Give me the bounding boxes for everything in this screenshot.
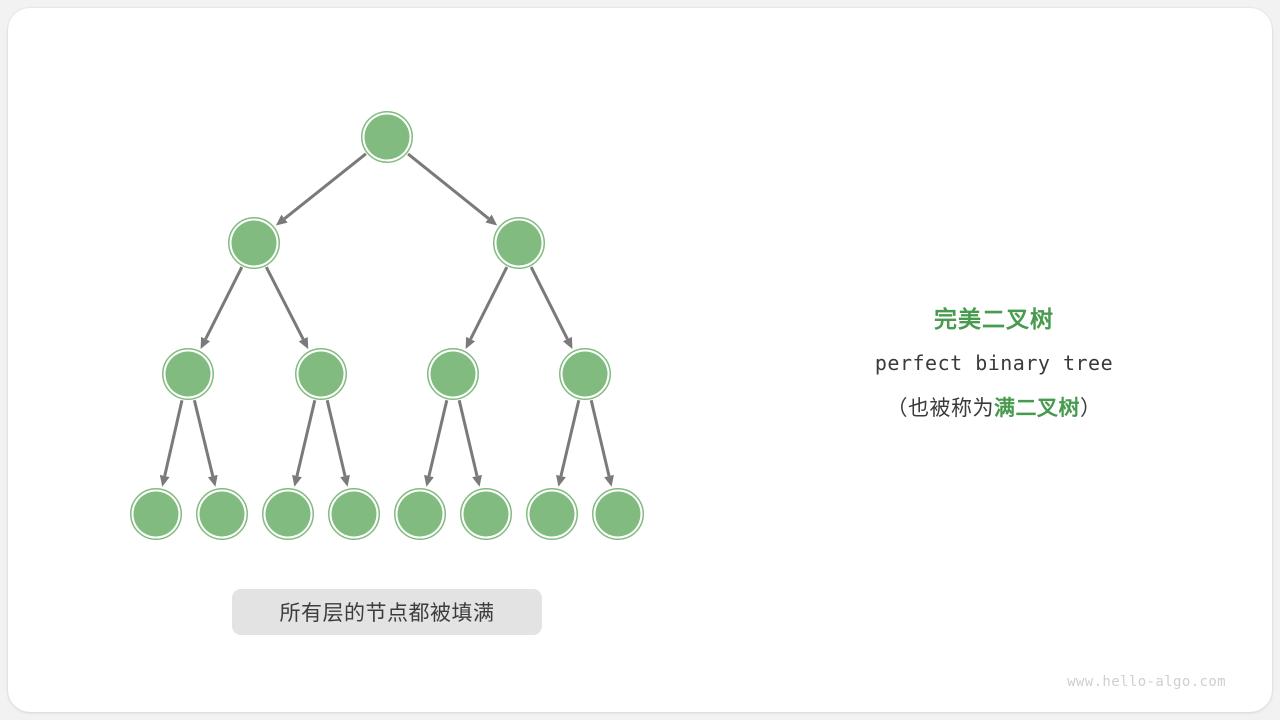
legend-subtitle: perfect binary tree — [808, 351, 1180, 375]
tree-edge — [591, 400, 609, 476]
site-watermark: www.hello-algo.com — [1067, 674, 1226, 690]
legend-alt-suffix: ） — [1080, 396, 1102, 420]
tree-node[interactable] — [494, 218, 545, 269]
tree-node-circle — [266, 492, 311, 537]
tree-node-circle — [596, 492, 641, 537]
tree-edge-arrowhead — [208, 475, 218, 487]
tree-node[interactable] — [362, 112, 413, 163]
tree-edge — [561, 400, 579, 476]
tree-node-circle — [232, 221, 277, 266]
tree-node-circle — [530, 492, 575, 537]
tree-edges — [160, 154, 614, 487]
tree-node-circle — [431, 352, 476, 397]
tree-node-circle — [464, 492, 509, 537]
tree-nodes — [131, 112, 644, 540]
tree-node[interactable] — [593, 489, 644, 540]
caption-badge: 所有层的节点都被填满 — [232, 589, 542, 635]
tree-edge — [285, 154, 366, 219]
tree-edge — [165, 400, 182, 476]
tree-node[interactable] — [329, 489, 380, 540]
tree-edge — [194, 400, 212, 476]
tree-node[interactable] — [395, 489, 446, 540]
tree-edge-arrowhead — [604, 475, 614, 487]
tree-edge — [327, 400, 345, 476]
tree-node-circle — [497, 221, 542, 266]
tree-edge-arrowhead — [424, 475, 434, 487]
tree-edge — [408, 154, 489, 219]
tree-edge-arrowhead — [340, 475, 350, 487]
tree-node-circle — [166, 352, 211, 397]
legend-alt-prefix: （也被称为 — [887, 396, 995, 420]
tree-node-circle — [332, 492, 377, 537]
tree-edge-arrowhead — [292, 475, 302, 487]
tree-edge — [297, 400, 315, 476]
diagram-canvas: 所有层的节点都被填满 完美二叉树 perfect binary tree （也被… — [0, 0, 1280, 720]
tree-node-circle — [200, 492, 245, 537]
tree-node[interactable] — [296, 349, 347, 400]
tree-edge — [266, 267, 303, 339]
legend-block: 完美二叉树 perfect binary tree （也被称为满二叉树） — [808, 300, 1180, 422]
tree-edge-arrowhead — [472, 475, 482, 487]
tree-node[interactable] — [560, 349, 611, 400]
tree-node-circle — [299, 352, 344, 397]
tree-node[interactable] — [428, 349, 479, 400]
tree-edge-arrowhead — [556, 475, 566, 487]
caption-label: 所有层的节点都被填满 — [280, 597, 495, 627]
tree-node[interactable] — [163, 349, 214, 400]
tree-node-circle — [563, 352, 608, 397]
tree-node-circle — [365, 115, 410, 160]
tree-node-circle — [398, 492, 443, 537]
tree-edge — [459, 400, 477, 476]
tree-edge-arrowhead — [160, 475, 170, 487]
legend-title: 完美二叉树 — [808, 300, 1180, 334]
tree-node[interactable] — [197, 489, 248, 540]
legend-alternate-name: （也被称为满二叉树） — [808, 392, 1180, 422]
legend-alt-highlight: 满二叉树 — [994, 396, 1080, 420]
tree-edge — [471, 267, 507, 339]
content-card: 所有层的节点都被填满 完美二叉树 perfect binary tree （也被… — [8, 8, 1272, 712]
tree-node[interactable] — [263, 489, 314, 540]
tree-node[interactable] — [527, 489, 578, 540]
tree-node[interactable] — [461, 489, 512, 540]
tree-node-circle — [134, 492, 179, 537]
tree-edge — [531, 267, 567, 339]
tree-edge — [206, 267, 242, 339]
tree-node[interactable] — [131, 489, 182, 540]
tree-node[interactable] — [229, 218, 280, 269]
tree-edge — [429, 400, 447, 476]
